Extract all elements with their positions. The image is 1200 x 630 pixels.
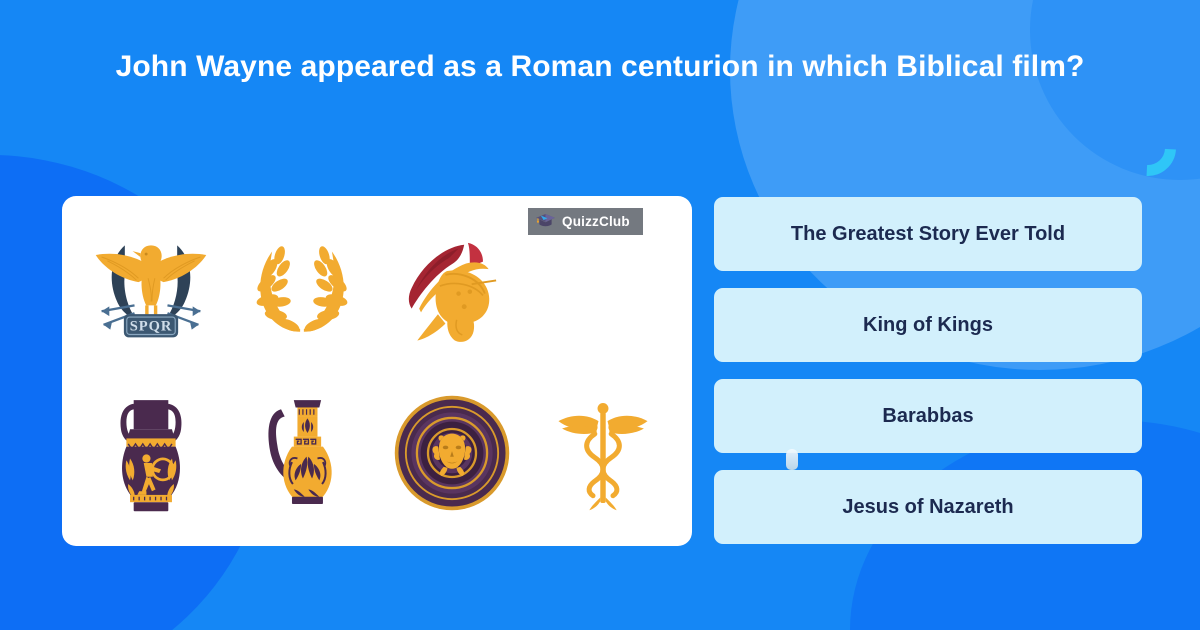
illustration-grid: SPQR bbox=[62, 196, 692, 546]
mouse-cursor-artifact bbox=[786, 449, 798, 470]
illustration-laurel-wreath bbox=[227, 204, 378, 370]
answer-option-4-label: Jesus of Nazareth bbox=[842, 496, 1013, 519]
answer-options-list: The Greatest Story Ever Told King of Kin… bbox=[714, 197, 1142, 544]
illustration-medusa-shield bbox=[377, 370, 528, 536]
watermark-label: QuizzClub bbox=[562, 214, 630, 229]
answer-option-1[interactable]: The Greatest Story Ever Told bbox=[714, 197, 1142, 271]
answer-option-1-label: The Greatest Story Ever Told bbox=[791, 223, 1065, 246]
answer-option-4[interactable]: Jesus of Nazareth bbox=[714, 470, 1142, 544]
answer-option-2[interactable]: King of Kings bbox=[714, 288, 1142, 362]
question-image-card: QuizzClub bbox=[62, 196, 692, 546]
quiz-card-image: John Wayne appeared as a Roman centurion… bbox=[0, 0, 1200, 630]
illustration-centurion-helmet bbox=[377, 204, 528, 370]
svg-text:SPQR: SPQR bbox=[130, 319, 173, 335]
illustration-roman-eagle-spqr-standard: SPQR bbox=[76, 204, 227, 370]
graduation-cap-icon bbox=[535, 213, 556, 230]
illustration-caduceus bbox=[528, 370, 679, 536]
watermark-badge: QuizzClub bbox=[528, 208, 643, 235]
answer-option-2-label: King of Kings bbox=[863, 314, 993, 337]
answer-option-3-label: Barabbas bbox=[882, 405, 973, 428]
question-text: John Wayne appeared as a Roman centurion… bbox=[70, 46, 1130, 89]
answer-option-3[interactable]: Barabbas bbox=[714, 379, 1142, 453]
illustration-greek-amphora bbox=[76, 370, 227, 536]
illustration-greek-jug bbox=[227, 370, 378, 536]
